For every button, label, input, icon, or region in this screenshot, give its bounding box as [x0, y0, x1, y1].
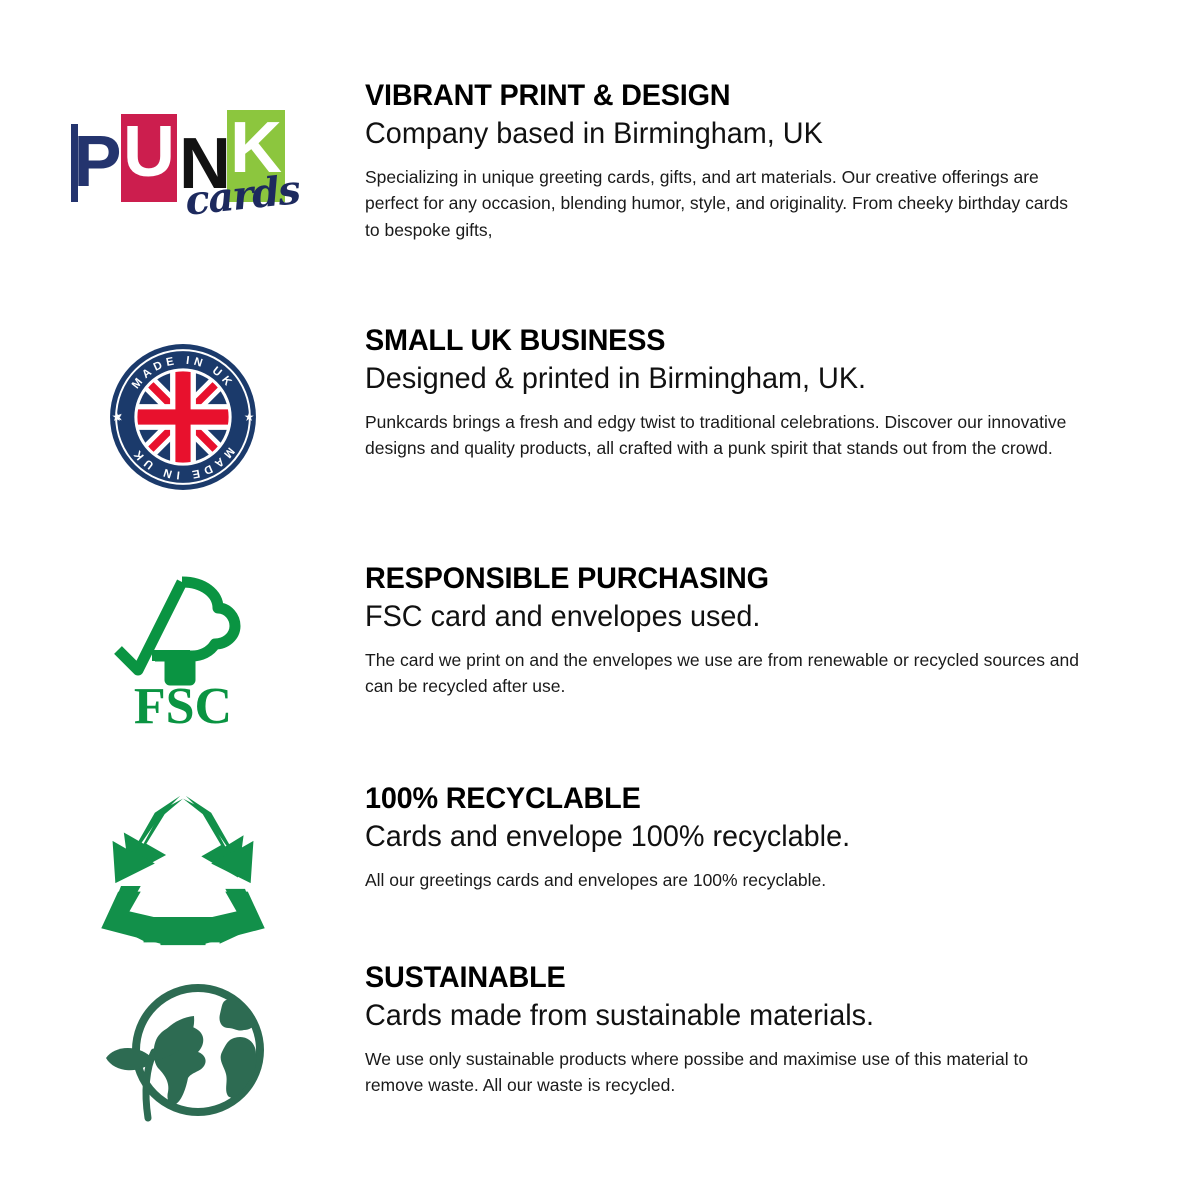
icon-column: FSC: [0, 563, 365, 733]
text-column: RESPONSIBLE PURCHASING FSC card and enve…: [365, 563, 1200, 700]
feature-subtitle: Company based in Birmingham, UK: [365, 117, 1071, 150]
fsc-logo: FSC: [108, 568, 258, 733]
feature-title: SUSTAINABLE: [365, 962, 1071, 993]
feature-subtitle: Cards and envelope 100% recyclable.: [365, 820, 1071, 853]
feature-row-vibrant-print-design: P U N K cards VIBRANT PRINT & DESIGN Com…: [0, 80, 1200, 243]
punkcards-logo: P U N K cards: [67, 110, 299, 220]
icon-column: P U N K cards: [0, 80, 365, 220]
feature-title: VIBRANT PRINT & DESIGN: [365, 80, 1071, 111]
logo-letter-p: P: [71, 124, 121, 202]
feature-subtitle: Cards made from sustainable materials.: [365, 999, 1071, 1032]
feature-body: All our greetings cards and envelopes ar…: [365, 867, 1085, 893]
feature-body: Specializing in unique greeting cards, g…: [365, 164, 1085, 243]
feature-title: SMALL UK BUSINESS: [365, 325, 1071, 356]
feature-title: 100% RECYCLABLE: [365, 783, 1071, 814]
icon-column: [0, 962, 365, 1132]
icon-column: [0, 783, 365, 953]
text-column: 100% RECYCLABLE Cards and envelope 100% …: [365, 783, 1200, 893]
globe-sprout-svg: [88, 972, 278, 1127]
feature-subtitle: Designed & printed in Birmingham, UK.: [365, 362, 1071, 395]
feature-title: RESPONSIBLE PURCHASING: [365, 563, 1071, 594]
logo-letter-p-text: P: [74, 122, 121, 202]
feature-list-page: P U N K cards VIBRANT PRINT & DESIGN Com…: [0, 0, 1200, 1200]
fsc-label: FSC: [133, 678, 231, 728]
feature-row-sustainable: SUSTAINABLE Cards made from sustainable …: [0, 962, 1200, 1132]
feature-subtitle: FSC card and envelopes used.: [365, 600, 1071, 633]
text-column: SUSTAINABLE Cards made from sustainable …: [365, 962, 1200, 1099]
feature-body: Punkcards brings a fresh and edgy twist …: [365, 409, 1085, 462]
feature-body: The card we print on and the envelopes w…: [365, 647, 1085, 700]
made-in-uk-badge: MADE IN UK MADE IN UK: [107, 341, 259, 498]
feature-body: We use only sustainable products where p…: [365, 1046, 1085, 1099]
made-in-uk-badge-svg: MADE IN UK MADE IN UK: [107, 341, 259, 493]
feature-row-responsible-purchasing: FSC RESPONSIBLE PURCHASING FSC card and …: [0, 563, 1200, 733]
text-column: VIBRANT PRINT & DESIGN Company based in …: [365, 80, 1200, 243]
logo-letter-u: U: [121, 114, 177, 202]
icon-column: MADE IN UK MADE IN UK: [0, 325, 365, 498]
fsc-logo-svg: FSC: [108, 568, 258, 728]
text-column: SMALL UK BUSINESS Designed & printed in …: [365, 325, 1200, 462]
feature-row-small-uk-business: MADE IN UK MADE IN UK SMALL UK: [0, 325, 1200, 498]
globe-sprout-icon: [88, 972, 278, 1132]
recycle-symbol-svg: [98, 793, 268, 948]
fsc-base-bar: [152, 650, 190, 661]
feature-row-100-recyclable: 100% RECYCLABLE Cards and envelope 100% …: [0, 783, 1200, 953]
sprout-leaf-left: [106, 1048, 150, 1070]
recycle-arrow-triad: [101, 796, 264, 945]
recycle-symbol: [98, 793, 268, 953]
